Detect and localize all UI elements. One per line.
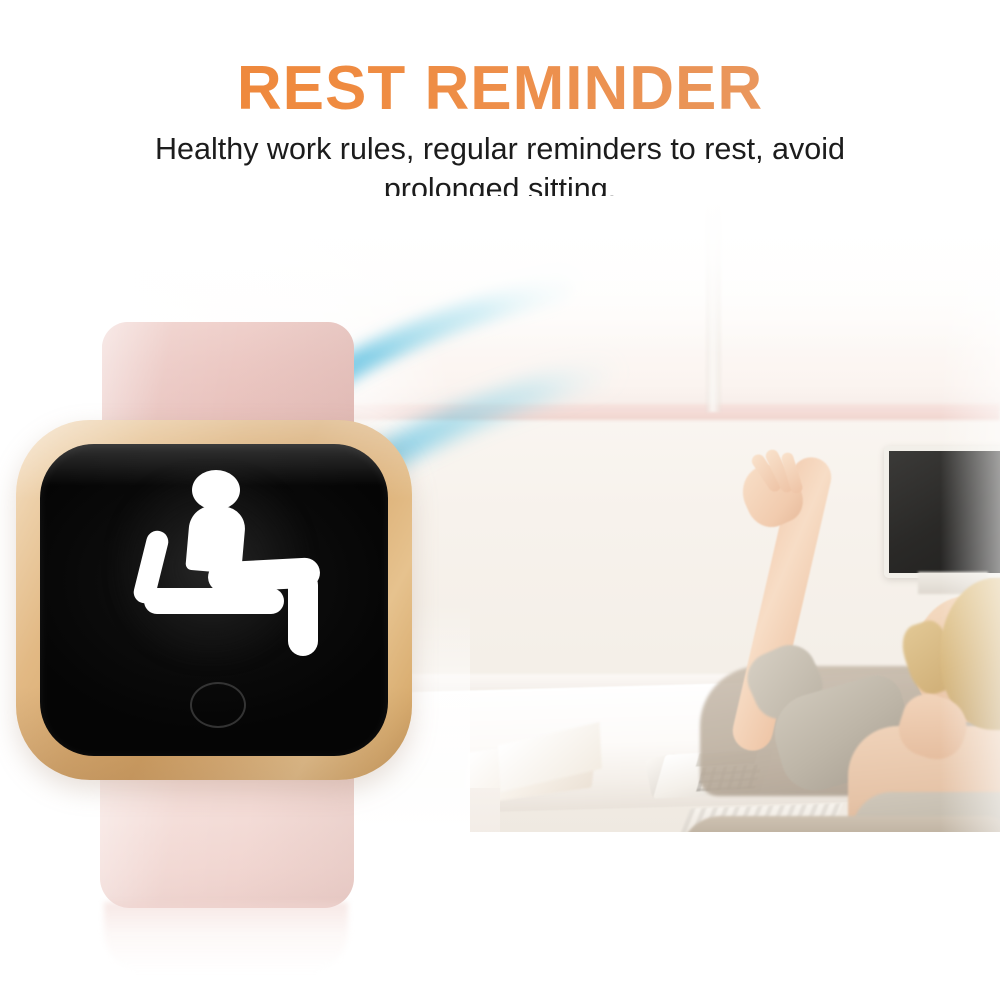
watch-reflection xyxy=(104,902,348,972)
sedentary-icon-shin xyxy=(288,570,318,656)
photo-fade-right xyxy=(940,196,1000,832)
sedentary-icon-seat xyxy=(144,588,284,614)
watch-strap-bottom-shading xyxy=(100,772,354,908)
page-title: REST REMINDER xyxy=(0,58,1000,120)
watch-screen[interactable] xyxy=(40,444,388,756)
sedentary-icon-head xyxy=(192,470,240,510)
poster-canvas: REST REMINDER Healthy work rules, regula… xyxy=(0,0,1000,1000)
smartwatch xyxy=(16,320,416,900)
home-button-icon[interactable] xyxy=(190,682,246,728)
